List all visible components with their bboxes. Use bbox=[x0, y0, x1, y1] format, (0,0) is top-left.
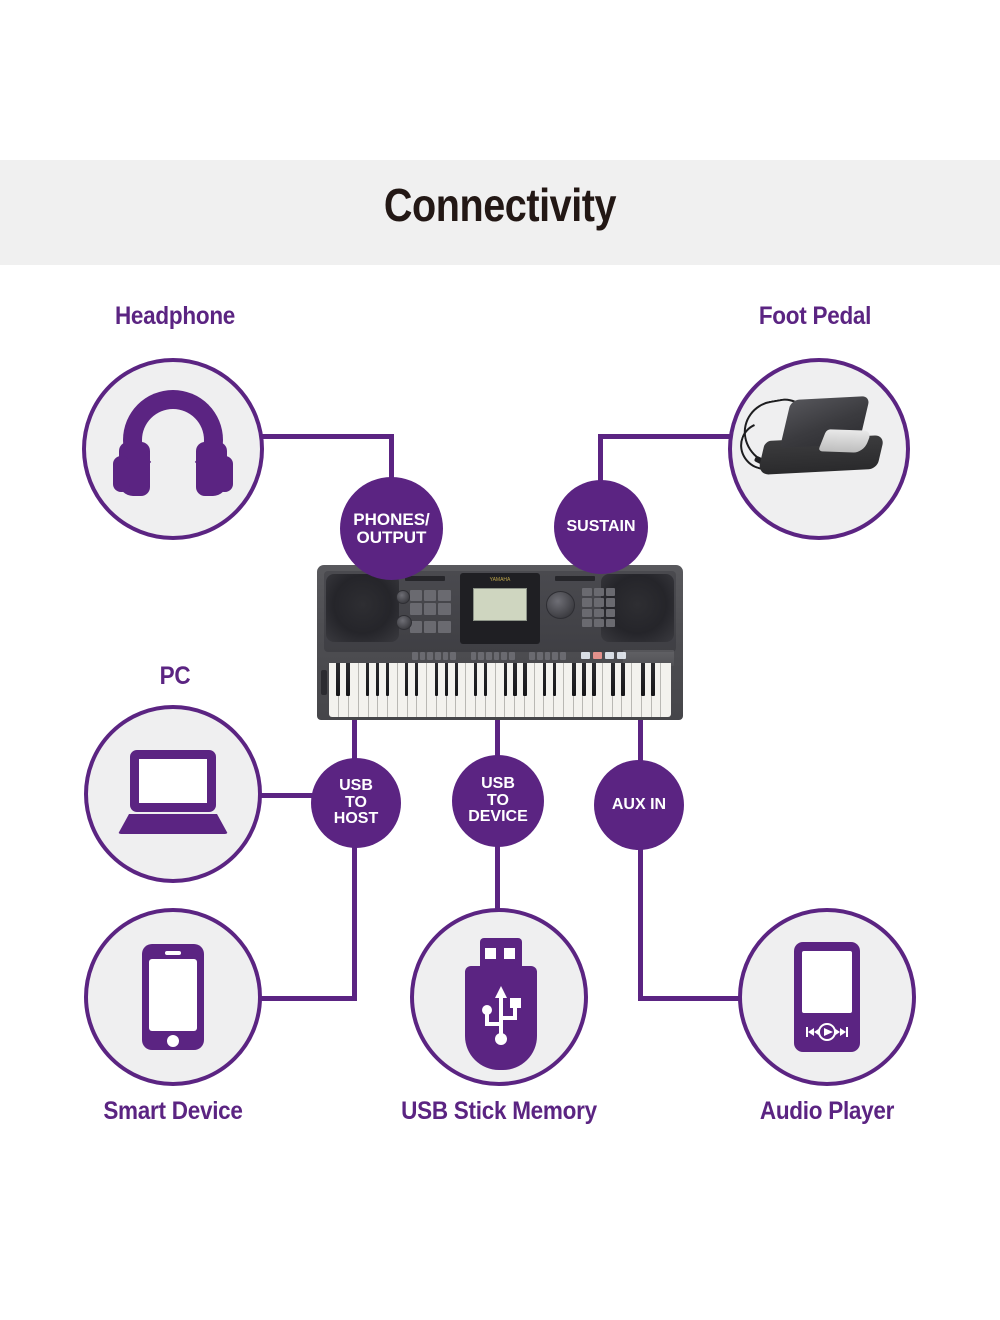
usb-flash-drive-icon bbox=[460, 938, 542, 1072]
audio-player-label: Audio Player bbox=[715, 1097, 940, 1126]
connectivity-diagram: Connectivity Headphone Foot Pedal bbox=[0, 0, 1000, 1320]
headphone-label: Headphone bbox=[63, 302, 288, 331]
keyboard-volume-knob[interactable] bbox=[396, 590, 411, 604]
connector-sustain-h bbox=[598, 434, 730, 439]
foot-pedal-label: Foot Pedal bbox=[703, 302, 928, 331]
pc-label: PC bbox=[63, 662, 288, 691]
smartphone-icon bbox=[142, 944, 204, 1050]
keyboard-button-grid-left-lower[interactable] bbox=[410, 621, 450, 633]
next-icon bbox=[840, 1028, 846, 1036]
connector-headphone-h bbox=[262, 434, 394, 439]
keyboard-button-grid-left[interactable] bbox=[410, 590, 450, 615]
keyboard-vent-left bbox=[405, 576, 445, 581]
laptop-icon bbox=[118, 750, 228, 836]
port-badge-usb-to-device[interactable]: USB TO DEVICE bbox=[452, 755, 544, 847]
port-badge-sustain[interactable]: SUSTAIN bbox=[554, 480, 648, 574]
prev-icon bbox=[808, 1028, 814, 1036]
keyboard-voice-buttons[interactable] bbox=[412, 652, 456, 661]
next-icon-2 bbox=[834, 1028, 840, 1036]
keyboard-numeric-keypad[interactable] bbox=[582, 588, 615, 627]
play-icon bbox=[824, 1028, 833, 1036]
connector-usbhost-v-down bbox=[352, 826, 357, 1001]
sustain-pedal-photo bbox=[738, 382, 903, 492]
port-badge-phones-output[interactable]: PHONES/ OUTPUT bbox=[340, 477, 443, 580]
keyboard-registration-buttons[interactable] bbox=[581, 652, 626, 659]
keyboard-brand-label: YAMAHA bbox=[460, 577, 541, 583]
headphone-icon bbox=[113, 390, 233, 498]
connector-keyboard-to-auxin bbox=[638, 718, 643, 763]
port-badge-usb-to-host[interactable]: USB TO HOST bbox=[311, 758, 401, 848]
connector-auxin-v-down bbox=[638, 826, 643, 1001]
port-badge-aux-in[interactable]: AUX IN bbox=[594, 760, 684, 850]
smart-device-label: Smart Device bbox=[61, 1097, 286, 1126]
keyboard-lcd-screen bbox=[473, 588, 528, 621]
page-title: Connectivity bbox=[70, 178, 930, 232]
digital-keyboard-photo[interactable]: YAMAHA bbox=[317, 565, 683, 720]
keyboard-vent-right bbox=[555, 576, 595, 581]
usb-stick-label: USB Stick Memory bbox=[387, 1097, 612, 1126]
keyboard-keys[interactable] bbox=[329, 663, 671, 717]
keyboard-lcd-housing: YAMAHA bbox=[460, 573, 541, 644]
keyboard-style-buttons[interactable] bbox=[471, 652, 515, 661]
connector-keyboard-to-usbhost bbox=[352, 718, 357, 763]
keyboard-side-jack bbox=[321, 670, 327, 695]
connector-usbhost-to-smartdevice bbox=[258, 996, 357, 1001]
keyboard-song-buttons[interactable] bbox=[529, 652, 566, 661]
connector-auxin-to-audioplayer bbox=[638, 996, 741, 1001]
keyboard-speaker-left bbox=[326, 574, 399, 642]
keyboard-dial-small[interactable] bbox=[396, 615, 412, 631]
portable-audio-player-icon bbox=[794, 942, 860, 1052]
keyboard-data-dial[interactable] bbox=[546, 591, 575, 619]
